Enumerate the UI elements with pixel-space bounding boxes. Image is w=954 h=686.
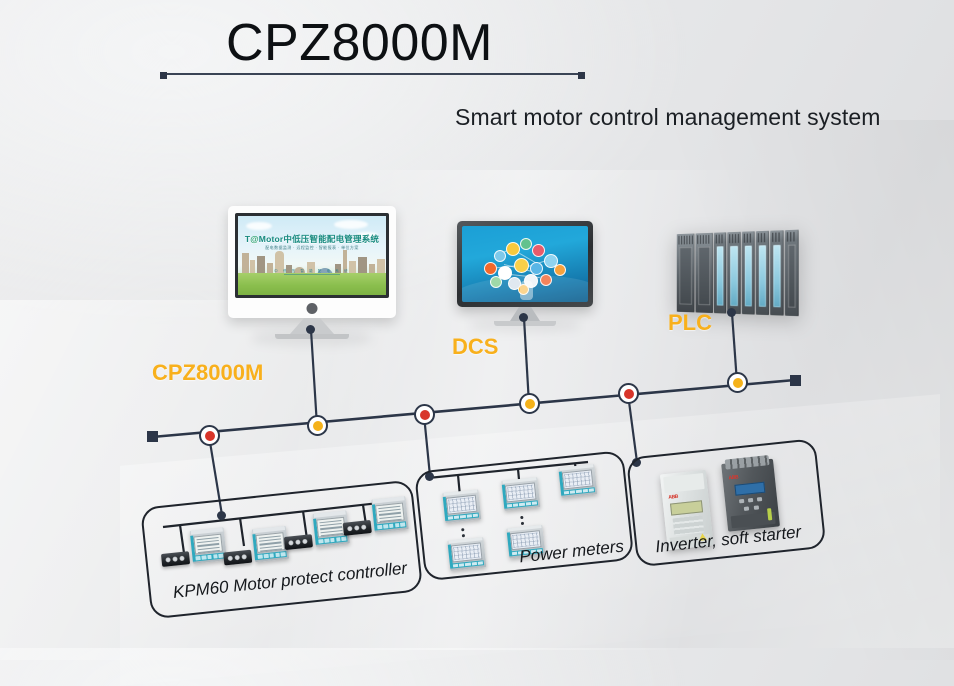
net-node	[506, 242, 520, 256]
plc-vent	[730, 234, 739, 243]
inverter-top-cover	[663, 473, 704, 493]
bus-node-power-meters[interactable]	[414, 404, 435, 425]
imac-body: T@Motor中低压智能配电管理系统 配电数据监测 · 远程监控 · 智能报表 …	[228, 206, 396, 318]
plc-vent	[679, 235, 693, 244]
node-dot	[313, 421, 323, 431]
bus-node-dcs[interactable]	[519, 393, 540, 414]
plc-vent	[697, 235, 711, 244]
cloud-shape	[334, 220, 368, 229]
dcs-stand-foot	[494, 321, 556, 326]
meter-display	[562, 469, 594, 489]
imac-screen: T@Motor中低压智能配电管理系统 配电数据监测 · 远程监控 · 智能报表 …	[235, 213, 389, 298]
ct-module	[161, 551, 190, 567]
kpm60-device-pair	[282, 510, 350, 550]
motor-protection-relay	[371, 496, 408, 532]
bus-line	[152, 380, 795, 437]
imac-power-indicator	[307, 303, 318, 314]
plc-power-module	[695, 233, 713, 313]
label-cpz8000m: CPZ8000M	[152, 360, 263, 386]
rule-bar	[167, 73, 578, 75]
pointer-hand-icon	[520, 280, 533, 300]
plc-modules	[677, 230, 800, 317]
plc-io-module	[756, 231, 769, 315]
plc-io-module	[728, 232, 741, 314]
plc-rack[interactable]	[672, 232, 798, 314]
ct-module	[284, 534, 313, 550]
net-node	[484, 262, 497, 275]
bus-node-kpm60[interactable]	[199, 425, 220, 446]
plc-face	[731, 246, 738, 306]
kpm60-device-pair	[159, 527, 227, 567]
net-node	[494, 250, 506, 262]
page-title: CPZ8000M	[226, 16, 493, 71]
soft-starter-device: ABB	[721, 459, 780, 532]
plc-face	[679, 247, 691, 305]
workstation-computer[interactable]: T@Motor中低压智能配电管理系统 配电数据监测 · 远程监控 · 智能报表 …	[228, 206, 396, 339]
imac-stand-foot	[275, 334, 349, 339]
net-node	[554, 264, 566, 276]
plc-face	[698, 247, 711, 306]
ct-module	[223, 550, 252, 566]
node-dot	[205, 431, 215, 441]
bus-node-workstation[interactable]	[307, 415, 328, 436]
meter-display	[451, 542, 483, 562]
plc-io-module	[714, 232, 726, 313]
net-node	[540, 274, 552, 286]
plc-vent	[772, 232, 782, 242]
dcs-bezel	[457, 221, 593, 307]
relay-display	[255, 532, 285, 553]
cloud-shape	[246, 222, 272, 230]
plc-io-module	[770, 230, 784, 316]
background-shade-right	[554, 120, 954, 660]
net-node	[532, 244, 545, 257]
power-meter	[558, 464, 597, 498]
power-meter	[501, 477, 540, 511]
meter-display	[446, 495, 478, 515]
screen-grass	[238, 273, 386, 295]
net-node	[490, 276, 502, 288]
ct-module	[343, 520, 372, 536]
soft-starter-button	[744, 506, 749, 511]
plc-vent	[716, 234, 725, 243]
brand-logo: ABB	[668, 494, 678, 501]
rule-cap-left	[160, 72, 167, 79]
junction-workstation	[306, 325, 315, 334]
screen-subtitle: 配电数据监测 · 远程监控 · 智能报表 · 单位方案	[238, 245, 386, 251]
soft-starter-button	[739, 499, 744, 504]
kpm60-device-pair	[341, 496, 409, 536]
group-box-power-meters[interactable]: Power meters	[414, 450, 634, 581]
soft-starter-button	[754, 505, 759, 510]
soft-starter-button	[757, 497, 762, 502]
lead-to-inverter	[628, 394, 637, 462]
net-node	[530, 262, 543, 275]
inverter-display	[670, 500, 703, 515]
node-dot	[733, 378, 743, 388]
junction-plc	[727, 308, 736, 317]
relay-display	[375, 502, 405, 523]
bus-cap-right	[790, 375, 801, 386]
group-caption-kpm60: KPM60 Motor protect controller	[172, 558, 408, 602]
plc-face	[773, 245, 780, 307]
power-meter	[447, 537, 486, 571]
plc-face	[744, 246, 751, 307]
bus-cap-left	[147, 431, 158, 442]
plc-io-module	[741, 231, 754, 314]
plc-end-module	[785, 230, 799, 317]
soft-starter-display	[734, 482, 765, 496]
net-node	[514, 258, 529, 273]
plc-vent	[743, 233, 752, 242]
dcs-screen	[462, 226, 588, 302]
bus-node-plc[interactable]	[727, 372, 748, 393]
relay-display	[193, 534, 223, 555]
title-rule	[160, 72, 585, 76]
dcs-monitor[interactable]	[457, 221, 593, 326]
meter-display	[505, 482, 537, 502]
node-dot	[525, 399, 535, 409]
busbar-terminals	[725, 455, 770, 470]
label-plc: PLC	[668, 310, 712, 336]
rule-cap-right	[578, 72, 585, 79]
bus-node-inverter[interactable]	[618, 383, 639, 404]
node-dot	[624, 389, 634, 399]
label-dcs: DCS	[452, 334, 498, 360]
soft-starter-label-strip	[767, 508, 772, 520]
diagram-canvas: CPZ8000M Smart motor control management …	[0, 0, 954, 648]
group-box-inverter[interactable]: ABB ABB Inverter, soft starter	[626, 438, 826, 567]
group-box-kpm60[interactable]: KPM60 Motor protect controller	[140, 479, 423, 619]
kpm60-device-pair	[221, 526, 289, 566]
cloud-network-graphic	[474, 236, 576, 288]
plc-face	[788, 245, 796, 308]
page-subtitle: Smart motor control management system	[455, 104, 881, 131]
plc-vent	[787, 232, 797, 242]
power-meter	[442, 489, 481, 523]
screen-menu: 中 低 压 智 能 配 电 系 统	[238, 268, 386, 273]
net-node	[520, 238, 532, 250]
brand-logo: ABB	[728, 474, 738, 481]
plc-face	[759, 245, 766, 307]
junction-dcs	[519, 313, 528, 322]
node-dot	[420, 410, 430, 420]
soft-starter-button	[748, 498, 753, 503]
plc-vent	[758, 233, 767, 243]
plc-face	[717, 246, 724, 305]
plc-cpu-module	[677, 233, 695, 312]
screen-title: T@Motor中低压智能配电管理系统	[238, 233, 386, 245]
